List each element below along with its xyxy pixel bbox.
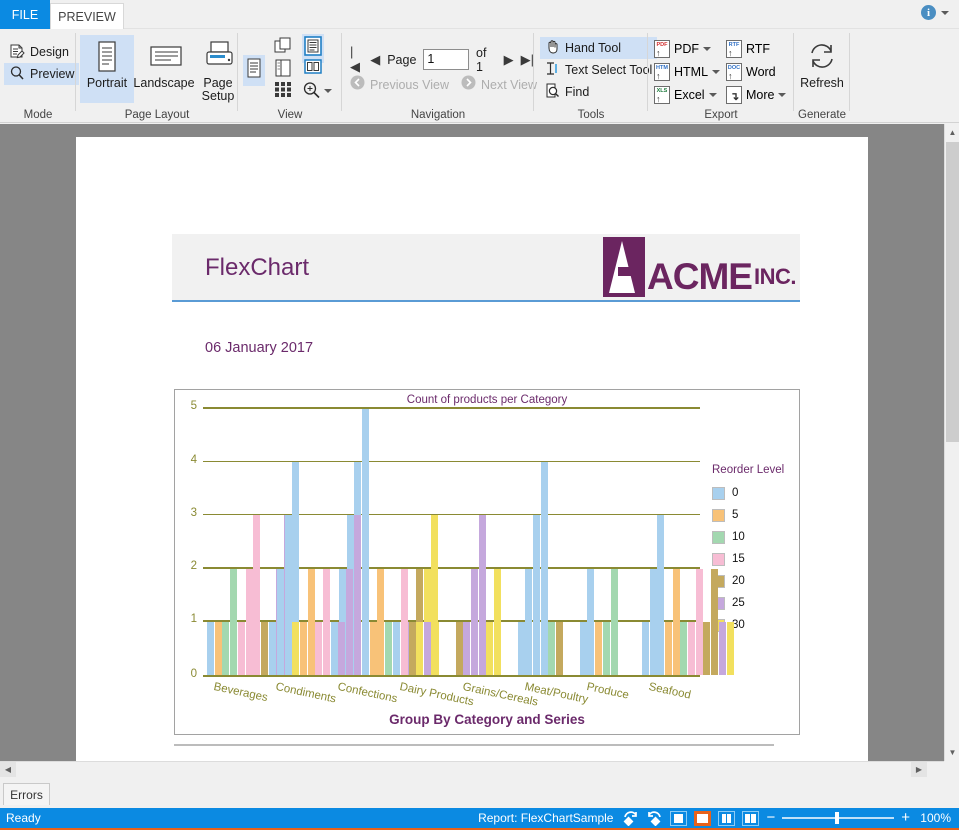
report-viewer-window: FILE PREVIEW i Design P (0, 0, 959, 830)
chart-bar (587, 569, 594, 675)
chart-bar (548, 622, 555, 675)
pdf-file-icon: PDF ↑ (654, 40, 670, 58)
export-html-button[interactable]: HTM ↑ HTML (654, 60, 720, 83)
refresh-label: Refresh (800, 77, 844, 90)
x-axis-category-label: Condiments (275, 681, 338, 705)
group-label-tools: Tools (534, 109, 648, 121)
page-divider (174, 744, 774, 746)
text-select-tool-label: Text Select Tool (565, 63, 652, 77)
errors-tab[interactable]: Errors (3, 783, 50, 805)
chart-bar (665, 622, 672, 675)
ribbon-group-mode: Design Preview Mode (0, 29, 76, 123)
page-count-label: of 1 (476, 46, 497, 74)
y-axis-tick-label: 2 (177, 560, 197, 572)
y-axis-tick-label: 0 (177, 668, 197, 680)
report-date: 06 January 2017 (205, 340, 313, 356)
group-label-navigation: Navigation (342, 109, 534, 121)
legend-item: 0 (712, 482, 784, 504)
legend-swatch (712, 553, 725, 566)
page-setup-button[interactable]: Page Setup (194, 35, 242, 103)
refresh-button[interactable]: Refresh (794, 29, 850, 90)
chart-bar (642, 622, 649, 675)
report-header-band: FlexChart ACME INC. (172, 234, 800, 302)
x-axis-category-label: Beverages (213, 681, 269, 704)
chart-gridline: 4 (203, 461, 700, 463)
rtf-file-icon: RTF ↑ (726, 40, 742, 58)
chart-bar (401, 622, 408, 675)
zoom-out-button[interactable]: − (766, 811, 775, 825)
page-setup-icon (203, 40, 233, 74)
two-page-view-icon[interactable] (718, 811, 735, 826)
legend-label: 15 (732, 553, 745, 565)
chart-bar (277, 569, 284, 675)
acme-logo-suffix: INC. (754, 257, 796, 297)
previous-view-icon (350, 75, 365, 95)
export-html-label: HTML (674, 65, 708, 79)
errors-panel-bar: Errors (0, 779, 959, 808)
vertical-scrollbar[interactable]: ▲ ▼ (944, 124, 959, 761)
design-icon (9, 43, 25, 62)
find-icon (545, 83, 560, 101)
landscape-button[interactable]: Landscape (134, 35, 194, 103)
export-rtf-label: RTF (746, 42, 770, 56)
x-axis-category-label: Seafood (647, 681, 691, 702)
document-viewport[interactable]: FlexChart ACME INC. 06 January 2017 Coun… (0, 124, 944, 761)
export-excel-button[interactable]: XLS ↑ Excel (654, 83, 720, 106)
chart-bar (603, 622, 610, 675)
legend-label: 10 (732, 531, 745, 543)
chart-bar (456, 622, 463, 675)
chevron-down-icon[interactable] (324, 89, 332, 93)
legend-item: 25 (712, 592, 784, 614)
chart-bar (292, 622, 299, 675)
portrait-button[interactable]: Portrait (80, 35, 134, 103)
next-view-icon (461, 75, 476, 95)
page-number-input[interactable]: 1 (423, 49, 469, 70)
legend-swatch (712, 487, 725, 500)
legend-label: 30 (732, 619, 745, 631)
ribbon-group-view: View (238, 29, 342, 123)
ribbon-group-navigation: |◀ ◀ Page 1 of 1 ▶ ▶| Previous View Next… (342, 29, 534, 123)
chart-bar (541, 462, 548, 675)
y-axis-tick-label: 1 (177, 613, 197, 625)
copy-pages-icon (274, 37, 292, 55)
horizontal-scrollbar[interactable]: ◀ ▶ (0, 761, 944, 777)
chart-bar (370, 622, 377, 675)
next-view-button[interactable]: Next View (481, 74, 537, 96)
page-setup-label-2: Setup (202, 89, 235, 103)
html-file-icon: HTM ↑ (654, 63, 670, 81)
chart-bar (222, 622, 229, 675)
export-more-button[interactable]: ↴ More (726, 83, 786, 106)
page-label: Page (387, 53, 416, 67)
chevron-down-icon[interactable] (941, 11, 949, 15)
word-file-icon: DOC ↑ (726, 63, 742, 81)
x-axis-category-label: Produce (585, 681, 629, 702)
chart-bar (238, 622, 245, 675)
chart-bar (354, 515, 361, 675)
group-label-page-layout: Page Layout (76, 109, 238, 121)
chart-bar (338, 622, 345, 675)
tabstrip-filler (124, 0, 959, 29)
chart-bar (580, 622, 587, 675)
export-excel-label: Excel (674, 88, 705, 102)
hand-icon (545, 39, 560, 57)
export-pdf-button[interactable]: PDF ↑ PDF (654, 37, 720, 60)
continuous-view-icon[interactable] (694, 811, 711, 826)
y-axis-tick-label: 4 (177, 454, 197, 466)
chevron-down-icon[interactable] (712, 70, 720, 74)
chart-gridline: 3 (203, 514, 700, 516)
ribbon-group-generate: Refresh Generate (794, 29, 850, 123)
ribbon-tabstrip: FILE PREVIEW i (0, 0, 959, 29)
chart-bar (207, 622, 214, 675)
legend-swatch (712, 531, 725, 544)
chart-bar (308, 569, 315, 675)
chart-bar (727, 622, 734, 675)
horizontal-scroll-thumb[interactable] (16, 763, 926, 777)
portrait-label: Portrait (87, 77, 127, 90)
legend-item: 20 (712, 570, 784, 592)
single-page-layout-button[interactable] (243, 55, 265, 86)
chart-bar (463, 622, 470, 675)
chart-bar (393, 622, 400, 675)
landscape-icon (149, 40, 179, 74)
page-view-icon (243, 55, 265, 86)
zoom-level-label: 100% (917, 811, 951, 825)
first-page-button[interactable]: |◀ (350, 44, 363, 75)
last-page-button[interactable]: ▶| (521, 52, 534, 68)
design-button[interactable]: Design (4, 41, 79, 63)
chart-bar (595, 622, 602, 675)
next-page-button[interactable]: ▶ (504, 52, 514, 68)
chart-bar (323, 569, 330, 675)
chart-bar (424, 622, 431, 675)
chart-legend: Reorder Level 051015202530 (712, 464, 784, 636)
excel-file-icon: XLS ↑ (654, 86, 670, 104)
chart-container: Count of products per Category 012345Bev… (174, 389, 800, 735)
chart-bar (688, 622, 695, 675)
chart-bar (611, 569, 618, 675)
continuous-view-icon (304, 36, 322, 56)
scroll-up-icon[interactable]: ▲ (945, 124, 959, 141)
zoom-slider[interactable] (782, 817, 894, 819)
previous-view-button[interactable]: Previous View (370, 74, 449, 96)
magnifier-icon (9, 65, 25, 84)
chart-bar (315, 622, 322, 675)
export-word-label: Word (746, 65, 776, 79)
legend-label: 25 (732, 597, 745, 609)
export-word-button[interactable]: DOC ↑ Word (726, 60, 786, 83)
chart-gridline: 5 (203, 407, 700, 409)
ribbon: Design Preview Mode Portrait (0, 29, 959, 123)
hand-tool-label: Hand Tool (565, 41, 621, 55)
grid-icon (274, 81, 293, 97)
group-label-export: Export (648, 109, 794, 121)
text-cursor-icon (545, 61, 560, 79)
preview-label: Preview (30, 67, 74, 81)
chart-bar (673, 569, 680, 675)
tab-preview[interactable]: PREVIEW (50, 3, 124, 29)
chevron-down-icon[interactable] (709, 93, 717, 97)
y-axis-tick-label: 5 (177, 400, 197, 412)
chart-bar (650, 569, 657, 675)
legend-item: 5 (712, 504, 784, 526)
status-text: Ready (6, 811, 41, 825)
tab-file[interactable]: FILE (0, 0, 50, 29)
chart-bar (703, 622, 710, 675)
refresh-icon (806, 41, 838, 74)
legend-title: Reorder Level (712, 464, 784, 476)
chart-bar (253, 515, 260, 675)
chevron-down-icon[interactable] (703, 47, 711, 51)
info-icon: i (921, 5, 936, 20)
chart-plot-area: 012345BeveragesCondimentsConfectionsDair… (203, 407, 700, 677)
group-label-view: View (238, 109, 342, 121)
chart-bar (215, 622, 222, 675)
zoom-button[interactable] (302, 81, 332, 100)
chevron-down-icon[interactable] (778, 93, 786, 97)
chart-bar (525, 569, 532, 675)
text-select-tool-button[interactable]: Text Select Tool (540, 59, 657, 81)
chart-bar (719, 622, 726, 675)
preview-button[interactable]: Preview (4, 63, 79, 85)
chart-bar (680, 622, 687, 675)
status-bar: Ready Report: FlexChartSample − + 100% (0, 808, 959, 830)
facing-pages-icon (274, 59, 292, 77)
chart-bar (269, 622, 276, 675)
find-button[interactable]: Find (540, 81, 657, 103)
chart-footer-caption: Group By Category and Series (175, 712, 799, 727)
chart-bar (533, 515, 540, 675)
grid-view-icon[interactable] (742, 811, 759, 826)
facing-pages-button[interactable] (274, 59, 292, 82)
chart-bar (479, 515, 486, 675)
zoom-in-icon (302, 81, 321, 100)
legend-label: 5 (732, 509, 738, 521)
landscape-label: Landscape (133, 77, 194, 90)
rotate-left-icon[interactable] (622, 810, 639, 826)
report-title: FlexChart (205, 254, 309, 282)
chart-bar (246, 569, 253, 675)
legend-item: 15 (712, 548, 784, 570)
chart-bar (346, 569, 353, 675)
multi-page-layout-button[interactable] (274, 37, 292, 60)
group-label-mode: Mode (0, 109, 76, 121)
acme-logo-text: ACME (647, 257, 752, 297)
chart-bar (409, 622, 416, 675)
scroll-right-icon[interactable]: ▶ (911, 762, 927, 777)
ribbon-group-page-layout: Portrait Landscape Page Setup (76, 29, 238, 123)
vertical-scroll-thumb[interactable] (946, 142, 959, 442)
chart-bar (385, 622, 392, 675)
info-button[interactable]: i (921, 5, 949, 20)
chart-bar (261, 622, 268, 675)
scroll-left-icon[interactable]: ◀ (0, 762, 16, 777)
legend-label: 20 (732, 575, 745, 587)
acme-logo-mark-icon (603, 237, 645, 297)
legend-label: 0 (732, 487, 738, 499)
chart-bar (362, 409, 369, 675)
group-separator (849, 33, 850, 111)
find-label: Find (565, 85, 589, 99)
thumbnails-button[interactable] (274, 81, 293, 102)
report-page: FlexChart ACME INC. 06 January 2017 Coun… (76, 137, 868, 761)
chart-bar (696, 569, 703, 675)
status-report-name: Report: FlexChartSample (478, 811, 613, 825)
previous-page-button[interactable]: ◀ (370, 52, 380, 68)
ribbon-group-export: PDF ↑ PDF HTM ↑ HTML XLS (648, 29, 794, 123)
rotate-right-icon[interactable] (646, 810, 663, 826)
chart-bar (518, 622, 525, 675)
chart-bar (471, 569, 478, 675)
page-setup-label-1: Page (203, 76, 232, 90)
x-axis-category-label: Confections (337, 681, 399, 705)
group-label-generate: Generate (794, 109, 850, 121)
chart-bar (331, 622, 338, 675)
chart-bar (377, 569, 384, 675)
hand-tool-button[interactable]: Hand Tool (540, 37, 657, 59)
chart-bar (432, 622, 439, 675)
y-axis-tick-label: 3 (177, 507, 197, 519)
chart-bar (494, 569, 501, 675)
legend-swatch (712, 509, 725, 522)
export-rtf-button[interactable]: RTF ↑ RTF (726, 37, 786, 60)
chart-bar (285, 515, 292, 675)
chart-bar (300, 622, 307, 675)
two-page-view-button[interactable] (304, 59, 322, 79)
design-label: Design (30, 45, 69, 59)
single-page-view-icon[interactable] (670, 811, 687, 826)
portrait-icon (92, 40, 122, 74)
chart-bar (416, 622, 423, 675)
more-file-icon: ↴ (726, 86, 742, 104)
acme-logo: ACME INC. (603, 237, 796, 297)
chart-bar (486, 622, 493, 675)
scroll-down-icon[interactable]: ▼ (945, 744, 959, 761)
export-more-label: More (746, 88, 774, 102)
zoom-in-button[interactable]: + (901, 811, 910, 825)
zoom-slider-knob[interactable] (835, 812, 839, 824)
chart-bar (711, 569, 718, 675)
legend-item: 10 (712, 526, 784, 548)
chart-title: Count of products per Category (175, 394, 799, 406)
two-page-view-icon (304, 59, 322, 74)
export-pdf-label: PDF (674, 42, 699, 56)
chart-bar (230, 569, 237, 675)
chart-bar (657, 515, 664, 675)
ribbon-group-tools: Hand Tool Text Select Tool Find Tools (534, 29, 648, 123)
chart-bar (556, 622, 563, 675)
